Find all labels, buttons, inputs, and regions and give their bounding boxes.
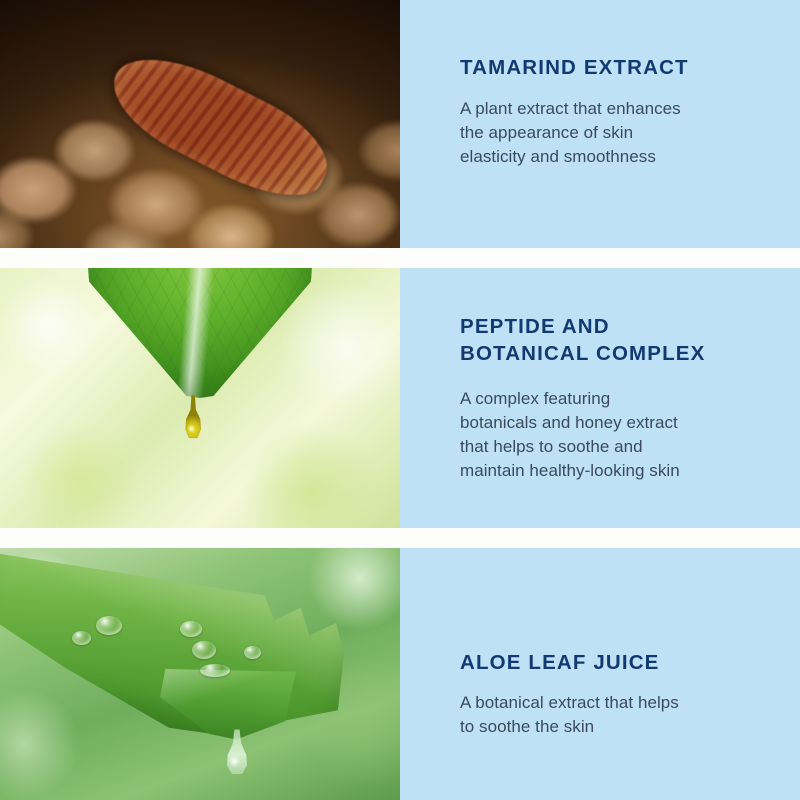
ingredient-description-peptide-and-botanical-complex: A complex featuring botanicals and honey…	[460, 387, 764, 482]
ingredient-title-aloe-leaf-juice: ALOE LEAF JUICE	[460, 649, 764, 676]
ingredient-text-tamarind-extract: TAMARIND EXTRACT A plant extract that en…	[400, 0, 800, 248]
water-droplet-icon	[200, 664, 230, 677]
ingredient-description-tamarind-extract: A plant extract that enhances the appear…	[460, 97, 764, 168]
ingredient-title-tamarind-extract: TAMARIND EXTRACT	[460, 54, 764, 81]
aloe-leaf-water-droplets-photo	[0, 548, 400, 800]
water-droplet-icon	[180, 621, 202, 637]
ingredient-text-aloe-leaf-juice: ALOE LEAF JUICE A botanical extract that…	[400, 548, 800, 800]
ingredient-infographic: TAMARIND EXTRACT A plant extract that en…	[0, 0, 800, 800]
aloe-leaf-blade-shape	[0, 548, 361, 768]
water-droplet-icon	[96, 616, 122, 635]
ingredient-panel-aloe-leaf-juice: ALOE LEAF JUICE A botanical extract that…	[0, 548, 800, 800]
tamarind-pods-photo	[0, 0, 400, 248]
panel-divider-1	[0, 248, 800, 268]
ingredient-title-peptide-and-botanical-complex: PEPTIDE AND BOTANICAL COMPLEX	[460, 313, 764, 367]
green-leaf-oil-droplet-photo	[0, 268, 400, 528]
ingredient-panel-tamarind-extract: TAMARIND EXTRACT A plant extract that en…	[0, 0, 800, 248]
ingredient-panel-peptide-and-botanical-complex: PEPTIDE AND BOTANICAL COMPLEX A complex …	[0, 268, 800, 528]
ingredient-description-aloe-leaf-juice: A botanical extract that helps to soothe…	[460, 691, 764, 739]
ingredient-text-peptide-and-botanical-complex: PEPTIDE AND BOTANICAL COMPLEX A complex …	[400, 268, 800, 528]
panel-divider-2	[0, 528, 800, 548]
